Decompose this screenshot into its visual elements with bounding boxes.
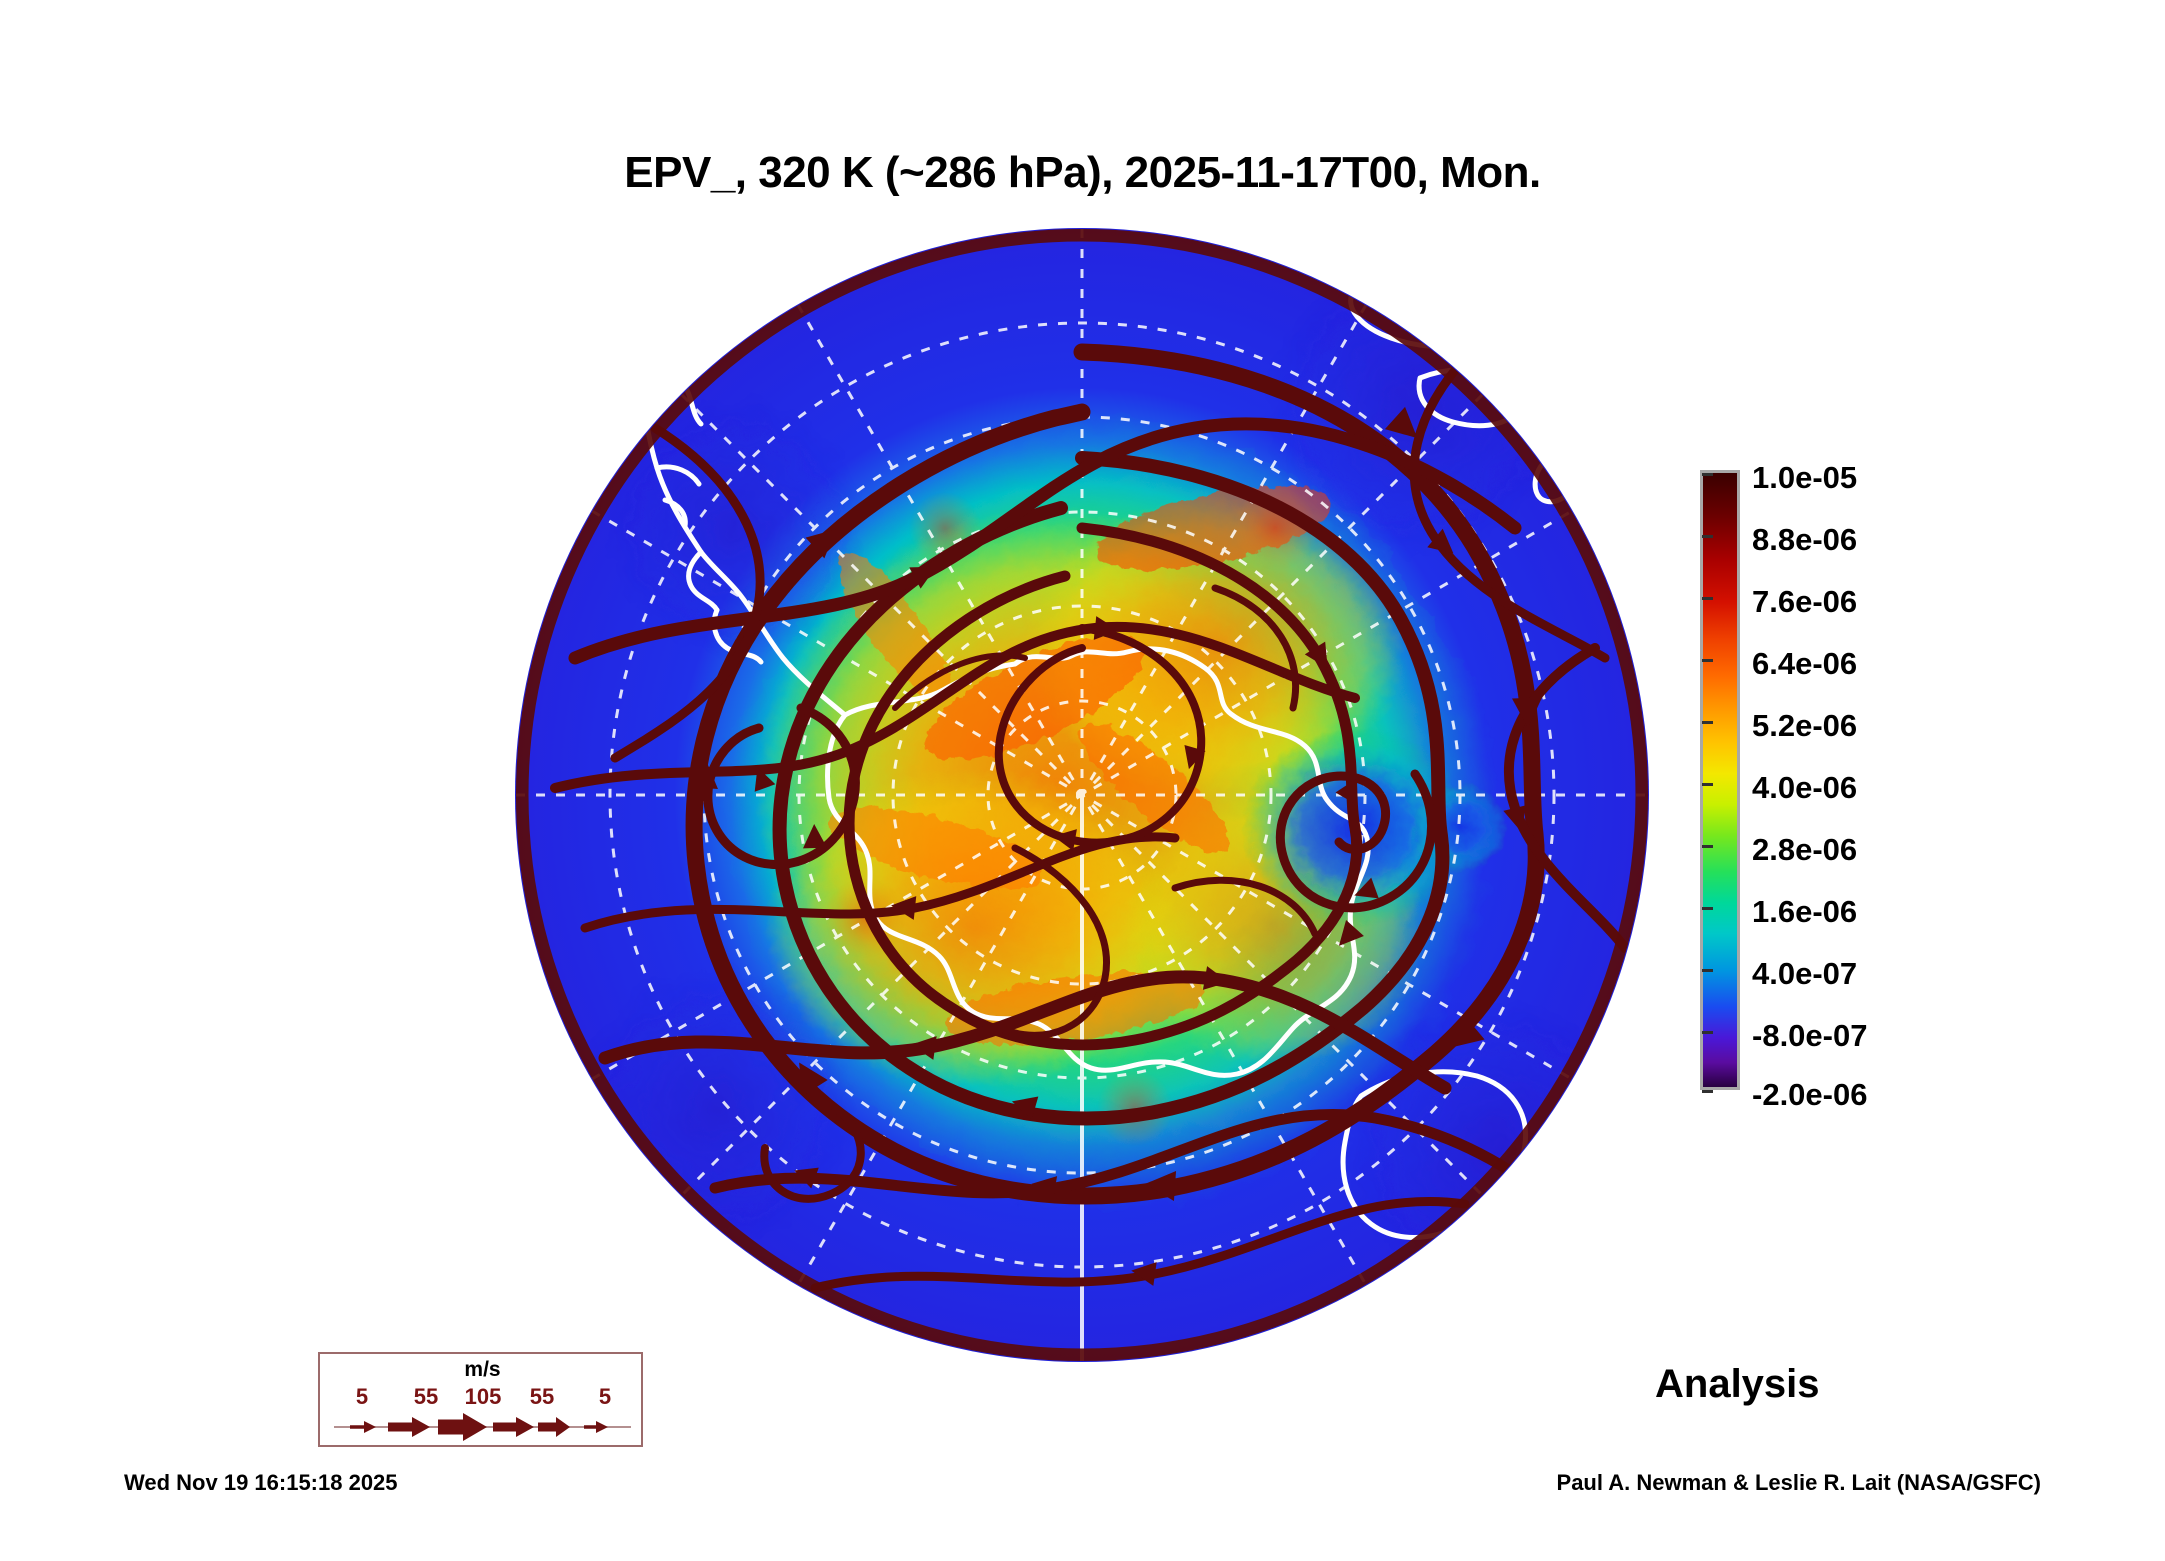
colorbar-label: 1.6e-06	[1752, 894, 1857, 930]
colorbar-tick	[1702, 783, 1713, 786]
colorbar-label: 8.8e-06	[1752, 522, 1857, 558]
wind-legend-value: 55	[414, 1384, 438, 1410]
colorbar-tick	[1702, 721, 1713, 724]
wind-legend-value: 55	[530, 1384, 554, 1410]
colorbar-tick	[1702, 659, 1713, 662]
globe-disc	[515, 228, 1649, 1362]
colorbar-label: -2.0e-06	[1752, 1077, 1867, 1113]
wind-legend-value: 5	[356, 1384, 368, 1410]
colorbar-label: 4.0e-07	[1752, 956, 1857, 992]
render-timestamp: Wed Nov 19 16:15:18 2025	[124, 1470, 398, 1496]
colorbar-tick	[1702, 1031, 1713, 1034]
colorbar-label: 5.2e-06	[1752, 708, 1857, 744]
colorbar: 1.0e-05 8.8e-06 7.6e-06 6.4e-06 5.2e-06 …	[1700, 470, 1740, 1090]
epv-field	[516, 229, 1648, 1361]
colorbar-tick	[1702, 907, 1713, 910]
wind-legend-value: 5	[599, 1384, 611, 1410]
colorbar-tick	[1702, 473, 1713, 476]
polar-map	[515, 228, 1649, 1362]
colorbar-tick	[1702, 1090, 1713, 1093]
colorbar-label: 7.6e-06	[1752, 584, 1857, 620]
wind-legend-arrows	[320, 1412, 645, 1442]
colorbar-label: 1.0e-05	[1752, 460, 1857, 496]
page-title: EPV_, 320 K (~286 hPa), 2025-11-17T00, M…	[0, 148, 2165, 198]
analysis-label: Analysis	[1655, 1362, 1820, 1407]
colorbar-gradient	[1700, 470, 1740, 1090]
colorbar-tick	[1702, 845, 1713, 848]
colorbar-tick	[1702, 969, 1713, 972]
colorbar-tick	[1702, 535, 1713, 538]
wind-legend-unit: m/s	[320, 1358, 645, 1382]
author-credit: Paul A. Newman & Leslie R. Lait (NASA/GS…	[1557, 1470, 2041, 1496]
colorbar-label: 4.0e-06	[1752, 770, 1857, 806]
colorbar-label: 2.8e-06	[1752, 832, 1857, 868]
colorbar-label: 6.4e-06	[1752, 646, 1857, 682]
wind-speed-legend: m/s 5 55 105 55 5	[318, 1352, 643, 1447]
colorbar-label: -8.0e-07	[1752, 1018, 1867, 1054]
colorbar-tick	[1702, 597, 1713, 600]
wind-legend-value: 105	[465, 1384, 502, 1410]
